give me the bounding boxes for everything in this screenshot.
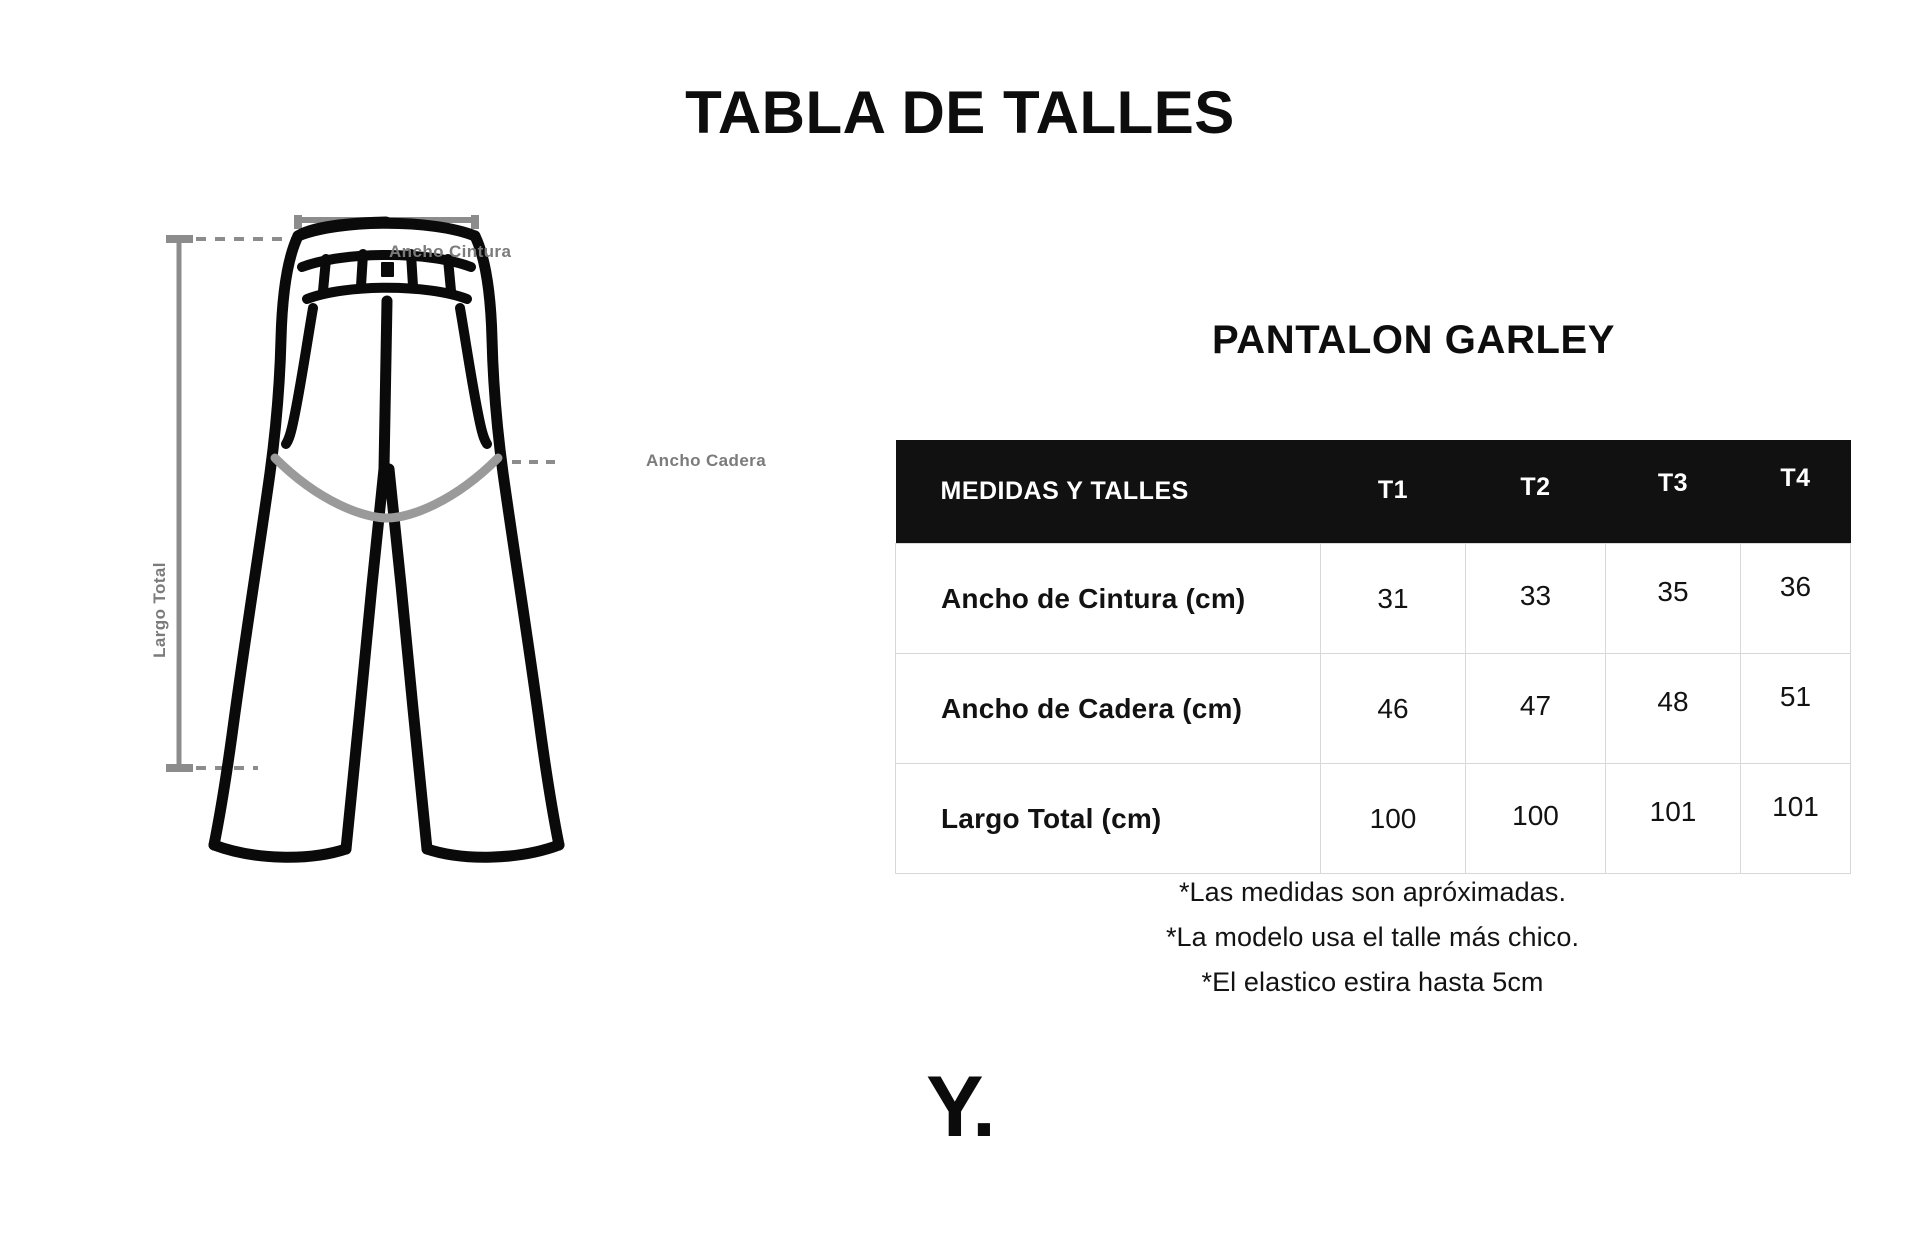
note-line: *Las medidas son apróximadas.: [895, 870, 1850, 915]
value-cell: 48: [1606, 654, 1741, 764]
measure-label: Ancho de Cadera (cm): [896, 654, 1321, 764]
table-row: Ancho de Cintura (cm) 31 33 35 36: [896, 544, 1851, 654]
page-title: TABLA DE TALLES: [0, 78, 1920, 147]
value-cell: 33: [1466, 544, 1606, 654]
value-cell: 100: [1321, 764, 1466, 874]
value-cell: 101: [1741, 764, 1851, 874]
value-cell: 47: [1466, 654, 1606, 764]
value-cell: 46: [1321, 654, 1466, 764]
product-name: PANTALON GARLEY: [1212, 318, 1615, 363]
measure-label: Ancho de Cintura (cm): [896, 544, 1321, 654]
table-header-row: MEDIDAS Y TALLES T1 T2 T3 T4: [896, 440, 1851, 544]
value-cell: 51: [1741, 654, 1851, 764]
value-cell: 36: [1741, 544, 1851, 654]
value-cell: 35: [1606, 544, 1741, 654]
header-size-t3: T3: [1606, 440, 1741, 544]
header-size-t2: T2: [1466, 440, 1606, 544]
center-seam: [384, 301, 387, 469]
value-cell: 31: [1321, 544, 1466, 654]
notes-block: *Las medidas son apróximadas. *La modelo…: [895, 870, 1850, 1005]
header-measidas-y-talles: MEDIDAS Y TALLES: [896, 440, 1321, 544]
value-cell: 100: [1466, 764, 1606, 874]
table-row: Ancho de Cadera (cm) 46 47 48 51: [896, 654, 1851, 764]
table-row: Largo Total (cm) 100 100 101 101: [896, 764, 1851, 874]
button-detail: [381, 262, 394, 277]
label-ancho-cadera: Ancho Cadera: [646, 451, 766, 471]
size-chart-table: MEDIDAS Y TALLES T1 T2 T3 T4 Ancho de Ci…: [895, 440, 1851, 874]
measure-label: Largo Total (cm): [896, 764, 1321, 874]
label-ancho-cintura: Ancho Cintura: [389, 242, 511, 262]
note-line: *La modelo usa el talle más chico.: [895, 915, 1850, 960]
label-largo-total: Largo Total: [150, 562, 170, 658]
value-cell: 101: [1606, 764, 1741, 874]
note-line: *El elastico estira hasta 5cm: [895, 960, 1850, 1005]
header-size-t1: T1: [1321, 440, 1466, 544]
pants-diagram: Ancho Cintura Ancho Cadera Largo Total: [150, 215, 850, 1015]
header-size-t4: T4: [1741, 440, 1851, 544]
pants-illustration-svg: [150, 215, 850, 1015]
brand-logo: Y.: [0, 1058, 1920, 1157]
